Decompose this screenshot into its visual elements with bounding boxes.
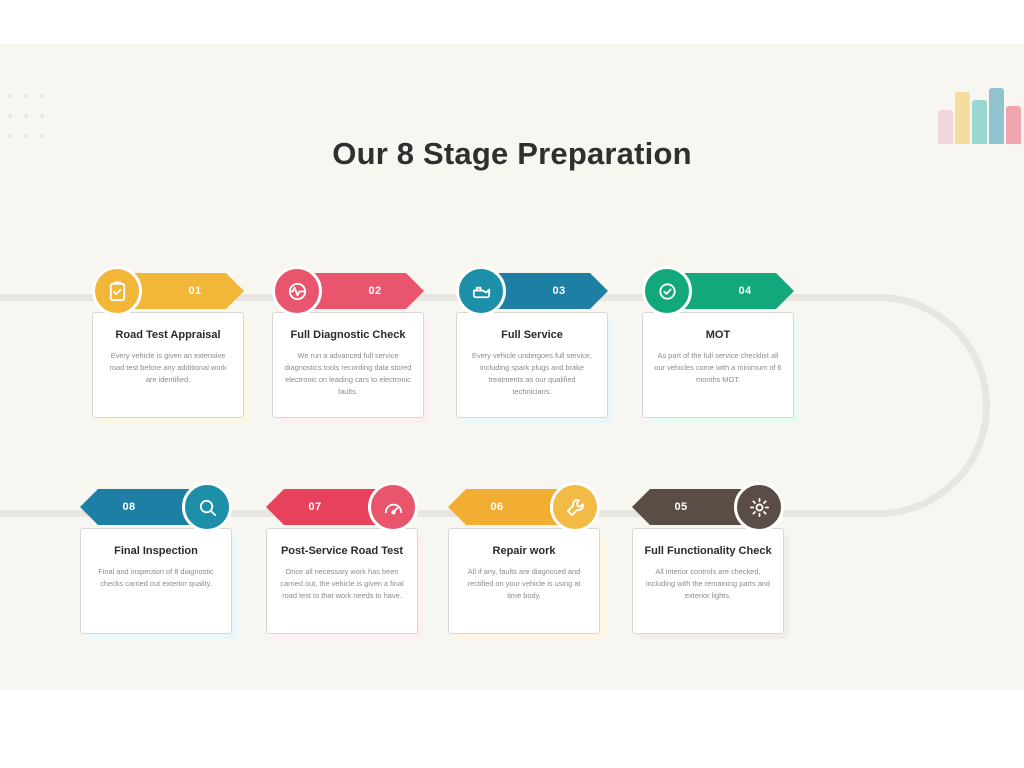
stage-body-1: Road Test Appraisal Every vehicle is giv… bbox=[92, 312, 244, 418]
clipboard-check-icon bbox=[92, 266, 142, 316]
ribbon-decoration bbox=[936, 82, 1022, 144]
stage-number-1: 01 bbox=[124, 285, 244, 297]
cog-settings-icon bbox=[734, 482, 784, 532]
speedometer-icon bbox=[368, 482, 418, 532]
wrench-icon bbox=[550, 482, 600, 532]
stage-card-1[interactable]: 01 Road Test Appraisal Every vehicle is … bbox=[92, 266, 244, 418]
stage-header-8: 08 bbox=[80, 482, 232, 532]
stage-chevron-3: 03 bbox=[488, 273, 608, 309]
stage-header-3: 03 bbox=[456, 266, 608, 316]
gear-check-icon bbox=[642, 266, 692, 316]
stage-header-2: 02 bbox=[272, 266, 424, 316]
connector-track-uturn bbox=[840, 294, 990, 517]
oil-can-icon bbox=[456, 266, 506, 316]
stage-header-5: 05 bbox=[632, 482, 784, 532]
letterbox-band-top bbox=[0, 0, 1024, 44]
stage-chevron-1: 01 bbox=[124, 273, 244, 309]
stage-header-6: 06 bbox=[448, 482, 600, 532]
stage-body-5: Full Functionality Check All interior co… bbox=[632, 528, 784, 634]
stage-body-7: Post-Service Road Test Once all necessar… bbox=[266, 528, 418, 634]
stage-card-8[interactable]: 08 Final Inspection Final and inspection… bbox=[80, 482, 232, 634]
stage-title-7: Post-Service Road Test bbox=[278, 544, 406, 558]
stage-body-3: Full Service Every vehicle undergoes ful… bbox=[456, 312, 608, 418]
stage-description-5: All interior controls are checked, inclu… bbox=[644, 566, 772, 602]
stage-header-7: 07 bbox=[266, 482, 418, 532]
stage-title-6: Repair work bbox=[460, 544, 588, 558]
stage-chevron-2: 02 bbox=[304, 273, 424, 309]
letterbox-band-bottom bbox=[0, 690, 1024, 768]
stage-card-2[interactable]: 02 Full Diagnostic Check We run a advanc… bbox=[272, 266, 424, 418]
stage-title-1: Road Test Appraisal bbox=[104, 328, 232, 342]
stage-description-8: Final and inspection of 8 diagnostic che… bbox=[92, 566, 220, 590]
stage-body-8: Final Inspection Final and inspection of… bbox=[80, 528, 232, 634]
stage-number-2: 02 bbox=[304, 285, 424, 297]
stage-description-6: All if any, faults are diagnosed and rec… bbox=[460, 566, 588, 602]
stage-body-6: Repair work All if any, faults are diagn… bbox=[448, 528, 600, 634]
slide-content-area: Our 8 Stage Preparation 01 Road Test App… bbox=[0, 44, 1024, 690]
stage-body-2: Full Diagnostic Check We run a advanced … bbox=[272, 312, 424, 418]
stage-number-3: 03 bbox=[488, 285, 608, 297]
stage-description-4: As part of the full service checklist al… bbox=[654, 350, 782, 386]
stage-title-4: MOT bbox=[654, 328, 782, 342]
stage-body-4: MOT As part of the full service checklis… bbox=[642, 312, 794, 418]
magnifier-icon bbox=[182, 482, 232, 532]
slide-canvas: Our 8 Stage Preparation 01 Road Test App… bbox=[0, 0, 1024, 768]
stage-card-5[interactable]: 05 Full Functionality Check All interior… bbox=[632, 482, 784, 634]
stage-description-7: Once all necessary work has been carried… bbox=[278, 566, 406, 602]
stage-number-4: 04 bbox=[674, 285, 794, 297]
stage-card-6[interactable]: 06 Repair work All if any, faults are di… bbox=[448, 482, 600, 634]
stage-header-4: 04 bbox=[642, 266, 794, 316]
stage-description-3: Every vehicle undergoes full service, in… bbox=[468, 350, 596, 398]
stage-title-5: Full Functionality Check bbox=[644, 544, 772, 558]
stage-description-1: Every vehicle is given an extensive road… bbox=[104, 350, 232, 386]
stage-card-3[interactable]: 03 Full Service Every vehicle undergoes … bbox=[456, 266, 608, 418]
stage-header-1: 01 bbox=[92, 266, 244, 316]
stage-title-8: Final Inspection bbox=[92, 544, 220, 558]
page-title: Our 8 Stage Preparation bbox=[0, 136, 1024, 172]
stage-title-2: Full Diagnostic Check bbox=[284, 328, 412, 342]
stage-card-7[interactable]: 07 Post-Service Road Test Once all neces… bbox=[266, 482, 418, 634]
stage-chevron-4: 04 bbox=[674, 273, 794, 309]
stage-description-2: We run a advanced full service diagnosti… bbox=[284, 350, 412, 398]
diagnostic-scan-icon bbox=[272, 266, 322, 316]
stage-card-4[interactable]: 04 MOT As part of the full service check… bbox=[642, 266, 794, 418]
stage-title-3: Full Service bbox=[468, 328, 596, 342]
